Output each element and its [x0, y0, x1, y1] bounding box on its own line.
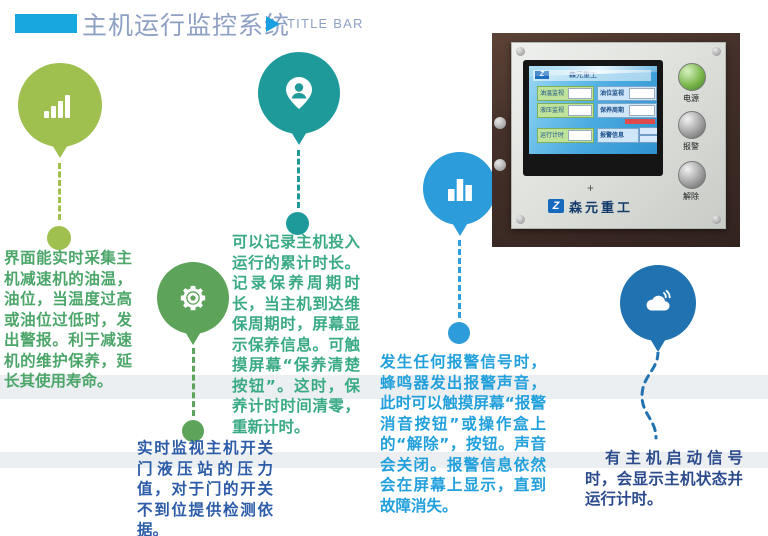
location-pin-person-icon: [284, 76, 314, 110]
bar-chart-icon: [446, 176, 474, 202]
infographic-canvas: 主机运行监控系统 TITLE BAR 界面能实时采集主机减速机的油温，油位，当温…: [0, 0, 768, 536]
signal-bars-icon: [43, 91, 77, 119]
hmi-cell-r2-right[interactable]: 报警信息: [597, 128, 639, 143]
balloon-chart-bubble[interactable]: [423, 152, 496, 225]
control-box-panel: Z 森元重工 油温监视 油位监视 液压监视 保养周期: [511, 42, 726, 229]
page-subtitle: TITLE BAR: [287, 16, 364, 31]
hmi-cell-label: 报警信息: [600, 130, 624, 139]
panel-bolt-top-right: [712, 47, 721, 56]
panel-bolt-bottom-left: [516, 215, 525, 224]
balloon-location-text: 可以记录主机投入运行的累计时长。记录保养周期时长，当主机到达维保周期时，屏幕显示…: [232, 232, 360, 437]
page-title: 主机运行监控系统: [82, 6, 290, 42]
balloon-signal-text: 界面能实时采集主机减速机的油温，油位，当温度过高或油位过低时，发出警报。利于减速…: [4, 248, 132, 392]
hmi-cell-label: 油位监视: [600, 88, 624, 97]
hmi-tab-1[interactable]: [639, 127, 657, 135]
balloon-chart-stem: [458, 240, 461, 318]
cloud-signal-icon: [642, 290, 674, 316]
hinge-bolt-lower: [494, 159, 506, 171]
balloon-signal-stem: [58, 163, 61, 220]
hinge-bolt-upper: [494, 117, 506, 129]
hmi-cell-r1-right[interactable]: 保养周期: [597, 103, 657, 118]
release-button-label: 解除: [674, 191, 708, 202]
brand-logo-mark: Z: [548, 199, 564, 213]
hmi-cell-r0-right[interactable]: 油位监视: [597, 86, 657, 101]
balloon-signal-bubble[interactable]: [18, 63, 102, 147]
hmi-cell-label: 油温监视: [540, 88, 564, 97]
gear-icon: [178, 283, 208, 313]
hmi-cell-r0-left[interactable]: 油温监视: [537, 86, 594, 101]
balloon-cloud-text: 有主机启动信号时，会显示主机状态并运行计时。: [585, 448, 743, 510]
balloon-cloud-stem: [612, 352, 692, 440]
hmi-cell-r2-left[interactable]: 运行计时: [537, 128, 594, 143]
alarm-key-label: 报警: [674, 141, 708, 152]
brand-name: 森元重工: [569, 197, 633, 216]
hmi-cell-label: 运行计时: [540, 130, 564, 139]
balloon-signal-dot: [47, 226, 71, 250]
balloon-gear-text: 实时监视主机开关门液压站的压力值，对于门的开关不到位提供检测依据。: [137, 438, 273, 536]
hmi-cell-label: 保养周期: [600, 105, 624, 114]
hmi-cell-r1-left[interactable]: 液压监视: [537, 103, 594, 118]
panel-brand: Z 森元重工: [548, 195, 678, 217]
balloon-chart-dot: [448, 322, 470, 344]
title-accent-swatch: [15, 14, 77, 33]
hmi-screen: Z 森元重工 油温监视 油位监视 液压监视 保养周期: [529, 66, 657, 154]
balloon-gear-stem: [192, 348, 195, 416]
power-indicator-label: 电源: [674, 93, 708, 104]
panel-bolt-bottom-right: [712, 215, 721, 224]
focus-cross-mark: +: [587, 182, 594, 194]
balloon-cloud-bubble[interactable]: [620, 265, 696, 341]
hmi-alarm-strip: [625, 119, 655, 124]
hmi-bezel: Z 森元重工 油温监视 油位监视 液压监视 保养周期: [523, 60, 663, 176]
hmi-cell-label: 液压监视: [540, 105, 564, 114]
panel-bolt-top-left: [516, 47, 525, 56]
balloon-chart-text: 发生任何报警信号时，蜂鸣器发出报警声音，此时可以触摸屏幕“报警消音按钮”或操作盒…: [380, 352, 546, 516]
release-push-button[interactable]: [678, 161, 706, 189]
control-box-photo: Z 森元重工 油温监视 油位监视 液压监视 保养周期: [492, 33, 740, 247]
play-arrow-icon: [266, 16, 280, 32]
title-bar: 主机运行监控系统 TITLE BAR: [0, 8, 420, 40]
hmi-tab-2[interactable]: [639, 135, 657, 143]
balloon-gear-bubble[interactable]: [157, 262, 229, 334]
balloon-location-bubble[interactable]: [258, 52, 340, 134]
power-indicator-knob[interactable]: [678, 63, 706, 91]
alarm-key-switch[interactable]: [678, 111, 706, 139]
balloon-location-stem: [297, 150, 300, 208]
